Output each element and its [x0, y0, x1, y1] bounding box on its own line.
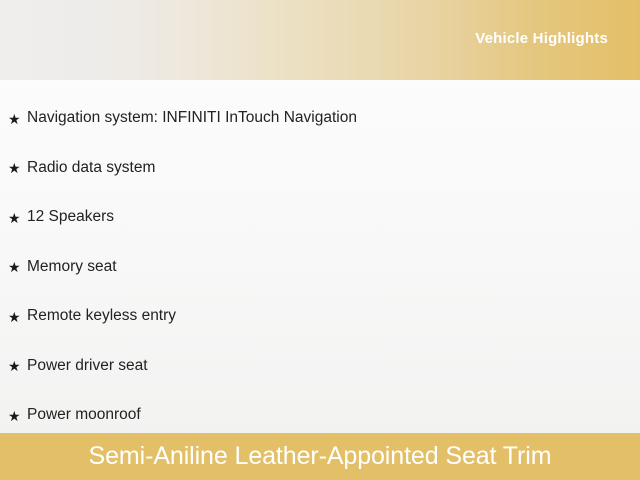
highlights-list: ★ Navigation system: INFINITI InTouch Na… [0, 94, 640, 433]
star-icon: ★ [8, 260, 27, 274]
slide-header: Vehicle Highlights [0, 0, 640, 80]
list-item-label: Remote keyless entry [27, 307, 176, 326]
footer-caption: Semi-Aniline Leather-Appointed Seat Trim [89, 444, 552, 469]
star-icon: ★ [8, 112, 27, 126]
footer-banner: Semi-Aniline Leather-Appointed Seat Trim [0, 433, 640, 480]
list-item-label: Radio data system [27, 159, 155, 178]
star-icon: ★ [8, 409, 27, 423]
highlights-body: ★ Navigation system: INFINITI InTouch Na… [0, 80, 640, 433]
list-item-label: Memory seat [27, 258, 117, 277]
list-item: ★ Navigation system: INFINITI InTouch Na… [0, 94, 640, 144]
vehicle-highlights-slide: Vehicle Highlights ★ Navigation system: … [0, 0, 640, 480]
list-item: ★ Memory seat [0, 243, 640, 293]
list-item: ★ 12 Speakers [0, 193, 640, 243]
star-icon: ★ [8, 359, 27, 373]
list-item: ★ Remote keyless entry [0, 292, 640, 342]
star-icon: ★ [8, 310, 27, 324]
list-item-label: Power moonroof [27, 406, 141, 425]
list-item-label: 12 Speakers [27, 208, 114, 227]
list-item-label: Navigation system: INFINITI InTouch Navi… [27, 109, 357, 128]
list-item-label: Power driver seat [27, 357, 148, 376]
list-item: ★ Power moonroof [0, 391, 640, 433]
page-title: Vehicle Highlights [475, 30, 608, 47]
star-icon: ★ [8, 211, 27, 225]
star-icon: ★ [8, 161, 27, 175]
list-item: ★ Power driver seat [0, 342, 640, 392]
list-item: ★ Radio data system [0, 144, 640, 194]
